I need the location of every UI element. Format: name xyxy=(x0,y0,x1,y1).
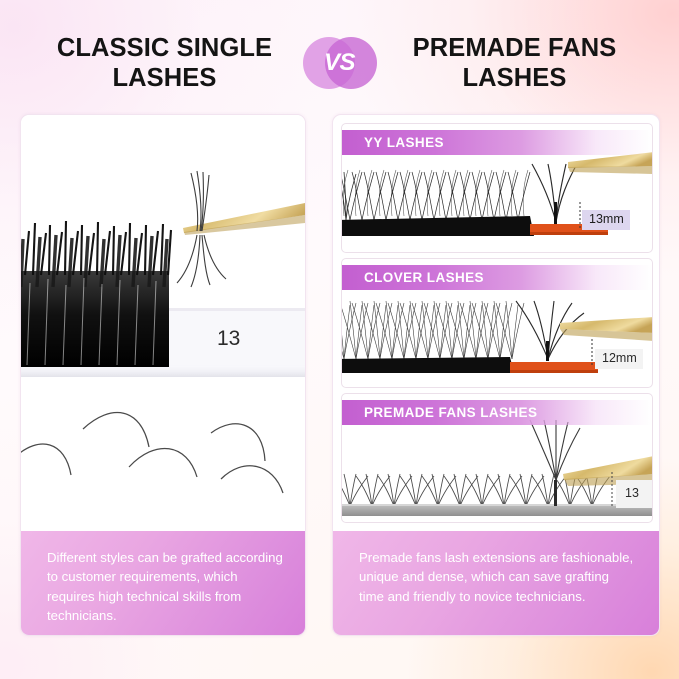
classic-single-lashes-panel: 13 Different styles can be grafted accor… xyxy=(20,114,306,636)
left-title: CLASSIC SINGLE LASHES xyxy=(33,33,301,93)
comparison-infographic: CLASSIC SINGLE LASHES VS PREMADE FANS LA… xyxy=(0,0,679,679)
curved-lash-strokes xyxy=(21,413,283,493)
classic-lash-illustration xyxy=(21,115,305,533)
premade-fans-measure-tag: 13 xyxy=(618,484,645,504)
left-size-label: 13 xyxy=(217,327,240,351)
vs-badge: VS xyxy=(301,33,379,93)
premade-fans-title: PREMADE FANS LASHES xyxy=(342,405,537,420)
premade-fans-lashes-panel: YY LASHES 13mm xyxy=(332,114,660,636)
card-premade-fans-lashes: PREMADE FANS LASHES 13 xyxy=(341,393,653,523)
left-caption: Different styles can be grafted accordin… xyxy=(21,531,305,635)
card-clover-lashes: CLOVER LASHES 12mm xyxy=(341,258,653,388)
card-yy-lashes: YY LASHES 13mm xyxy=(341,123,653,253)
premade-fans-banner: PREMADE FANS LASHES xyxy=(342,400,652,425)
tweezer-icon xyxy=(568,152,653,174)
yy-lashes-title: YY LASHES xyxy=(342,135,444,150)
yy-lashes-measure-tag: 13mm xyxy=(582,210,630,230)
left-panel-artwork: 13 xyxy=(21,115,305,533)
header: CLASSIC SINGLE LASHES VS PREMADE FANS LA… xyxy=(0,24,679,102)
yy-lashes-banner: YY LASHES xyxy=(342,130,652,155)
right-caption: Premade fans lash extensions are fashion… xyxy=(333,531,659,635)
vs-label: VS xyxy=(324,51,355,76)
premade-fan-sample xyxy=(530,420,580,480)
clover-lashes-title: CLOVER LASHES xyxy=(342,270,484,285)
clover-lashes-banner: CLOVER LASHES xyxy=(342,265,652,290)
right-title: PREMADE FANS LASHES xyxy=(379,33,647,93)
clover-lashes-measure-tag: 12mm xyxy=(595,349,643,369)
